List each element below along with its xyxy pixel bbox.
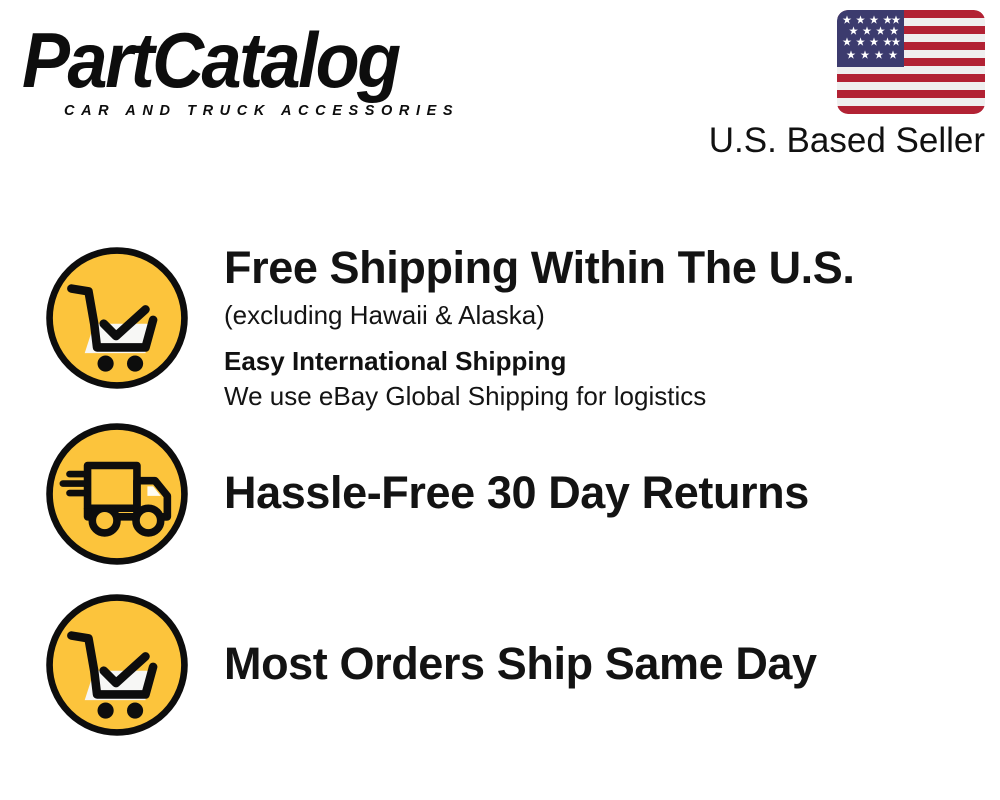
shopping-cart-check-icon [41, 589, 193, 741]
benefit-text-block: Free Shipping Within The U.S. (excluding… [193, 242, 1000, 413]
us-based-seller-label: U.S. Based Seller [705, 121, 985, 161]
us-based-seller-badge: U.S. Based Seller [705, 10, 985, 161]
benefit-icon-badge [41, 418, 193, 570]
benefit-icon-badge [41, 589, 193, 741]
delivery-truck-icon [41, 418, 193, 570]
benefit-subtext-strong: Easy International Shipping [224, 345, 1000, 378]
benefit-row: Free Shipping Within The U.S. (excluding… [0, 242, 1000, 413]
benefit-icon-badge [41, 242, 193, 394]
benefit-heading: Most Orders Ship Same Day [224, 639, 1000, 689]
benefit-subtext-detail: We use eBay Global Shipping for logistic… [224, 380, 1000, 413]
shopping-cart-check-icon [41, 242, 193, 394]
benefit-text-block: Hassle-Free 30 Day Returns [193, 418, 1000, 518]
benefit-heading: Hassle-Free 30 Day Returns [224, 468, 1000, 518]
benefit-row: Most Orders Ship Same Day [0, 589, 1000, 741]
us-flag-icon [837, 10, 985, 114]
brand-tagline: CAR AND TRUCK ACCESSORIES [64, 103, 492, 119]
brand-wordmark: PartCatalog [22, 22, 492, 100]
benefit-row: Hassle-Free 30 Day Returns [0, 418, 1000, 570]
brand-logo[interactable]: PartCatalog CAR AND TRUCK ACCESSORIES [22, 22, 492, 118]
benefit-text-block: Most Orders Ship Same Day [193, 589, 1000, 689]
benefit-heading: Free Shipping Within The U.S. [224, 243, 1000, 293]
benefit-subtext: (excluding Hawaii & Alaska) [224, 299, 1000, 332]
